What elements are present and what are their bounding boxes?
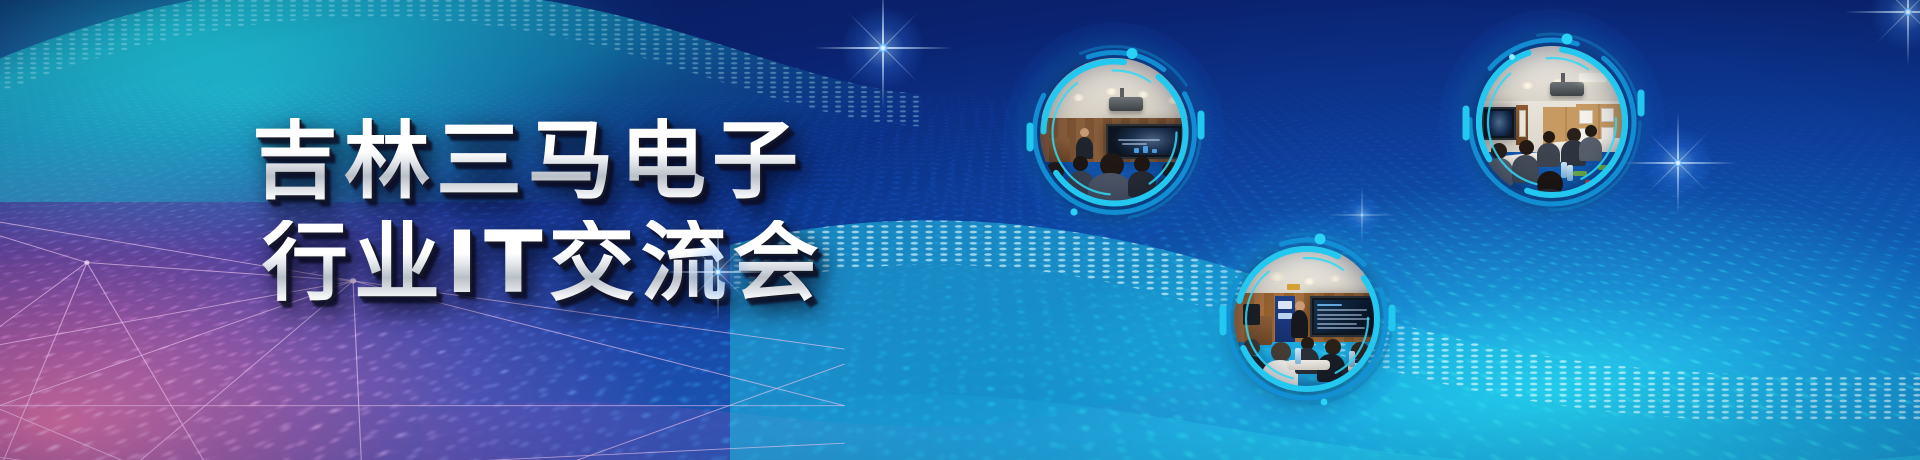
promo-banner: 吉林三马电子 行业IT交流会 (0, 0, 1920, 460)
medallion-ring-decoration (1216, 228, 1398, 410)
headline-line-2: 行业IT交流会 (252, 220, 825, 308)
medallion-photo-conference-presenter (1022, 40, 1207, 225)
medallion-photo-seminar-speaker (1216, 228, 1398, 410)
medallion-ring-decoration (1457, 27, 1647, 217)
medallion-ring-decoration (1022, 40, 1207, 225)
headline-block: 吉林三马电子 行业IT交流会 (252, 118, 825, 307)
medallion-photo-training-classroom (1457, 27, 1647, 217)
headline-line-1: 吉林三马电子 (252, 118, 825, 206)
